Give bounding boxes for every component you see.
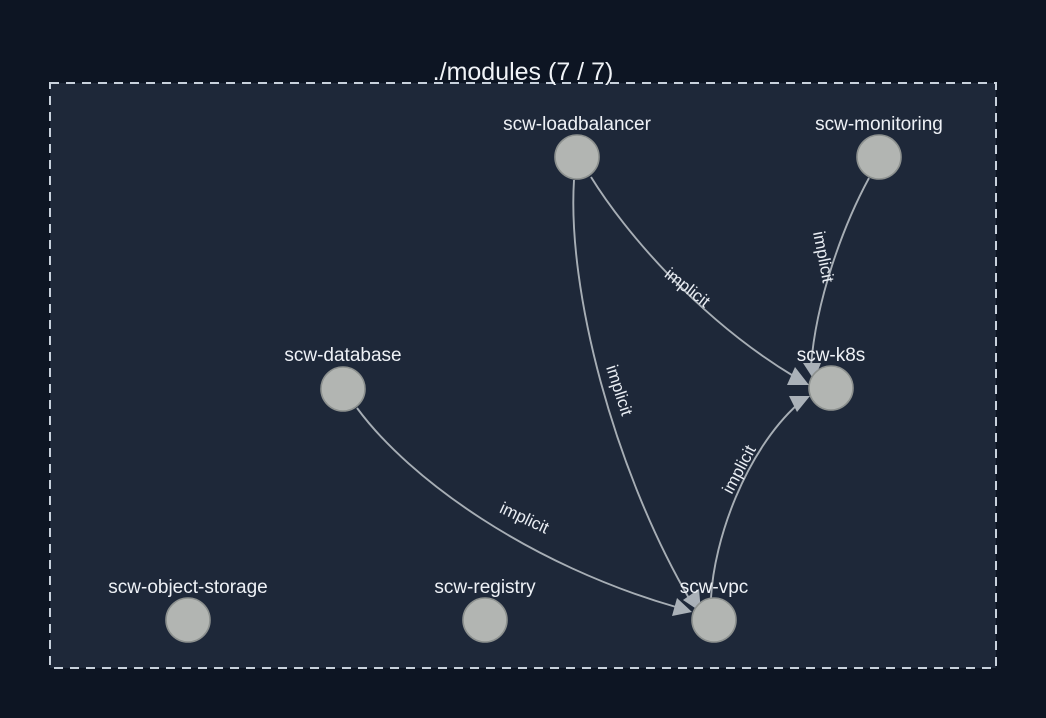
- node-label: scw-loadbalancer: [503, 114, 652, 135]
- node-label: scw-vpc: [680, 577, 749, 598]
- node-circle[interactable]: [857, 135, 901, 179]
- node-circle[interactable]: [692, 598, 736, 642]
- node-circle[interactable]: [809, 366, 853, 410]
- node-label: scw-registry: [434, 577, 536, 598]
- node-circle[interactable]: [166, 598, 210, 642]
- node-label: scw-database: [284, 345, 401, 366]
- node-circle[interactable]: [463, 598, 507, 642]
- node-label: scw-k8s: [797, 345, 866, 366]
- module-graph-canvas: ./modules (7 / 7) implicit implicit impl…: [0, 0, 1046, 718]
- node-label: scw-object-storage: [108, 577, 267, 598]
- node-circle[interactable]: [555, 135, 599, 179]
- node-label: scw-monitoring: [815, 114, 943, 135]
- node-circle[interactable]: [321, 367, 365, 411]
- graph-svg: ./modules (7 / 7) implicit implicit impl…: [0, 0, 1046, 718]
- cluster-title: ./modules (7 / 7): [433, 58, 614, 86]
